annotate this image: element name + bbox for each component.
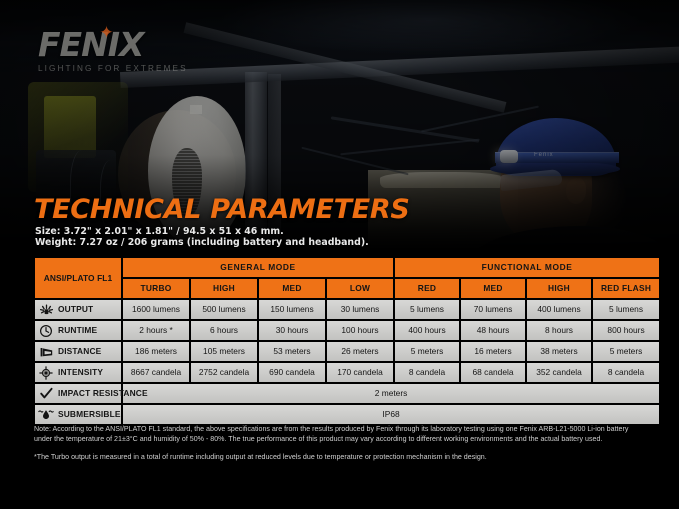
output-starburst-icon <box>38 303 54 317</box>
column-group-general-mode: GENERAL MODE <box>123 258 393 277</box>
cell-output-low: 30 lumens <box>327 300 393 319</box>
table-row: SUBMERSIBLE IP68 <box>35 405 659 424</box>
table-header: ANSI/PLATO FL1 GENERAL MODE FUNCTIONAL M… <box>35 258 659 298</box>
row-label-text: RUNTIME <box>58 326 97 335</box>
table-header-group-row: ANSI/PLATO FL1 GENERAL MODE FUNCTIONAL M… <box>35 258 659 277</box>
cell-intensity-low: 170 candela <box>327 363 393 382</box>
table-row: OUTPUT 1600 lumens 500 lumens 150 lumens… <box>35 300 659 319</box>
row-label-output: OUTPUT <box>35 300 121 319</box>
footnotes: Note: According to the ANSI/PLATO FL1 st… <box>34 424 640 462</box>
fenix-tagline: LIGHTING FOR EXTREMES <box>38 64 188 73</box>
column-header-low: LOW <box>327 279 393 298</box>
cell-intensity-turbo: 8667 candela <box>123 363 189 382</box>
row-label-text: OUTPUT <box>58 305 93 314</box>
cell-impact-resistance-value: 2 meters <box>123 384 659 403</box>
cell-intensity-high: 2752 candela <box>191 363 257 382</box>
cell-distance-low: 26 meters <box>327 342 393 361</box>
cell-intensity-red-flash: 8 candela <box>593 363 659 382</box>
impact-check-icon <box>38 387 54 401</box>
size-line: Size: 3.72" x 2.01" x 1.81" / 94.5 x 51 … <box>35 226 284 237</box>
row-label-runtime: RUNTIME <box>35 321 121 340</box>
technical-parameters-table-wrapper: ANSI/PLATO FL1 GENERAL MODE FUNCTIONAL M… <box>33 256 641 426</box>
page-title: TECHNICAL PARAMETERS <box>34 194 410 225</box>
cell-runtime-low: 100 hours <box>327 321 393 340</box>
cell-output-turbo: 1600 lumens <box>123 300 189 319</box>
cell-distance-turbo: 186 meters <box>123 342 189 361</box>
row-label-impact-resistance: IMPACT RESISTANCE <box>35 384 121 403</box>
cell-runtime-red: 400 hours <box>395 321 459 340</box>
table-row: RUNTIME 2 hours * 6 hours 30 hours 100 h… <box>35 321 659 340</box>
submersible-droplet-icon <box>38 408 54 422</box>
cell-distance-red: 5 meters <box>395 342 459 361</box>
row-label-text: SUBMERSIBLE <box>58 410 121 419</box>
cell-runtime-med: 30 hours <box>259 321 325 340</box>
row-label-submersible: SUBMERSIBLE <box>35 405 121 424</box>
technical-parameters-table: ANSI/PLATO FL1 GENERAL MODE FUNCTIONAL M… <box>33 256 661 426</box>
fenix-logo: ✦ FENIX LIGHTING FOR EXTREMES <box>38 28 188 76</box>
table-row: IMPACT RESISTANCE 2 meters <box>35 384 659 403</box>
cell-distance-red-flash: 5 meters <box>593 342 659 361</box>
runtime-clock-icon <box>38 324 54 338</box>
row-label-intensity: INTENSITY <box>35 363 121 382</box>
footnote-turbo-asterisk: *The Turbo output is measured in a total… <box>34 452 640 462</box>
cell-runtime-red-high: 8 hours <box>527 321 591 340</box>
cell-intensity-red: 8 candela <box>395 363 459 382</box>
cell-output-red: 5 lumens <box>395 300 459 319</box>
cell-output-red-high: 400 lumens <box>527 300 591 319</box>
cell-runtime-high: 6 hours <box>191 321 257 340</box>
cell-output-red-flash: 5 lumens <box>593 300 659 319</box>
cell-intensity-red-high: 352 candela <box>527 363 591 382</box>
column-header-red: RED <box>395 279 459 298</box>
cell-runtime-red-med: 48 hours <box>461 321 525 340</box>
cell-distance-red-high: 38 meters <box>527 342 591 361</box>
product-spec-page: Fenix ✦ FENIX LIGHTING FOR EXTREMES TECH… <box>0 0 679 509</box>
row-label-text: INTENSITY <box>58 368 103 377</box>
table-row: INTENSITY 8667 candela 2752 candela 690 … <box>35 363 659 382</box>
table-row: DISTANCE 186 meters 105 meters 53 meters… <box>35 342 659 361</box>
cell-runtime-red-flash: 800 hours <box>593 321 659 340</box>
weight-line: Weight: 7.27 oz / 206 grams (including b… <box>35 237 369 248</box>
table-header-column-row: TURBO HIGH MED LOW RED MED HIGH RED FLAS… <box>35 279 659 298</box>
table-corner-standard-label: ANSI/PLATO FL1 <box>35 258 121 298</box>
row-label-text: DISTANCE <box>58 347 101 356</box>
column-group-functional-mode: FUNCTIONAL MODE <box>395 258 659 277</box>
column-header-red-med: MED <box>461 279 525 298</box>
cell-output-high: 500 lumens <box>191 300 257 319</box>
cell-distance-med: 53 meters <box>259 342 325 361</box>
star-icon: ✦ <box>98 24 115 41</box>
table-body: OUTPUT 1600 lumens 500 lumens 150 lumens… <box>35 300 659 424</box>
cell-output-med: 150 lumens <box>259 300 325 319</box>
row-label-distance: DISTANCE <box>35 342 121 361</box>
cell-submersible-value: IP68 <box>123 405 659 424</box>
row-label-text: IMPACT RESISTANCE <box>58 389 148 398</box>
column-header-red-high: HIGH <box>527 279 591 298</box>
column-header-high: HIGH <box>191 279 257 298</box>
cell-intensity-med: 690 candela <box>259 363 325 382</box>
cell-distance-high: 105 meters <box>191 342 257 361</box>
column-header-red-flash: RED FLASH <box>593 279 659 298</box>
cell-runtime-turbo: 2 hours * <box>123 321 189 340</box>
column-header-med: MED <box>259 279 325 298</box>
column-header-turbo: TURBO <box>123 279 189 298</box>
cell-output-red-med: 70 lumens <box>461 300 525 319</box>
cell-intensity-red-med: 68 candela <box>461 363 525 382</box>
distance-beam-icon <box>38 345 54 359</box>
intensity-crosshair-icon <box>38 366 54 380</box>
cell-distance-red-med: 16 meters <box>461 342 525 361</box>
footnote-ansi-standard: Note: According to the ANSI/PLATO FL1 st… <box>34 424 640 444</box>
